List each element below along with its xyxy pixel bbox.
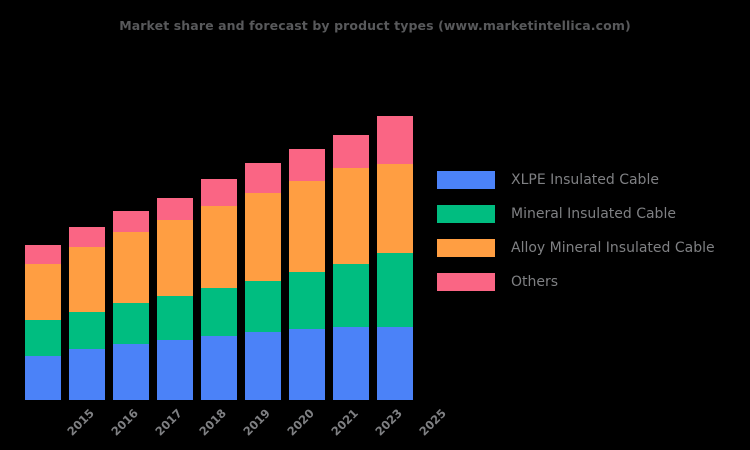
bar-group-2023[interactable]: [333, 135, 369, 400]
bar-segment[interactable]: [201, 336, 237, 400]
chart-title: Market share and forecast by product typ…: [0, 18, 750, 33]
bar-segment[interactable]: [289, 272, 325, 329]
bar-segment[interactable]: [377, 116, 413, 164]
legend-item[interactable]: Alloy Mineral Insulated Cable: [437, 231, 737, 265]
x-tick-label-2017: 2017: [152, 406, 185, 439]
legend-item-label: Mineral Insulated Cable: [511, 206, 676, 222]
chart-legend: XLPE Insulated CableMineral Insulated Ca…: [437, 163, 737, 299]
plot-area: [0, 60, 430, 400]
legend-item-label: Alloy Mineral Insulated Cable: [511, 240, 715, 256]
bar-segment[interactable]: [157, 296, 193, 340]
bar-segment[interactable]: [69, 247, 105, 311]
legend-swatch-icon: [437, 171, 495, 189]
bar-segment[interactable]: [113, 303, 149, 344]
bar-segment[interactable]: [201, 206, 237, 288]
bar-group-2016[interactable]: [69, 227, 105, 400]
bar-segment[interactable]: [245, 281, 281, 332]
bar-segment[interactable]: [157, 220, 193, 296]
legend-item-label: Others: [511, 274, 558, 290]
bar-segment[interactable]: [245, 163, 281, 193]
bar-segment[interactable]: [113, 232, 149, 303]
bar-segment[interactable]: [201, 179, 237, 206]
bar-segment[interactable]: [245, 193, 281, 280]
x-tick-label-2023: 2023: [372, 406, 405, 439]
bar-group-2021[interactable]: [289, 149, 325, 400]
x-tick-label-2021: 2021: [328, 406, 361, 439]
bar-segment[interactable]: [113, 211, 149, 232]
bar-segment[interactable]: [377, 253, 413, 326]
bar-segment[interactable]: [25, 264, 61, 320]
legend-swatch-icon: [437, 205, 495, 223]
bar-segment[interactable]: [377, 164, 413, 254]
legend-item[interactable]: XLPE Insulated Cable: [437, 163, 737, 197]
x-tick-label-2025: 2025: [416, 406, 449, 439]
legend-item-label: XLPE Insulated Cable: [511, 172, 659, 188]
bar-group-2020[interactable]: [245, 163, 281, 400]
bar-segment[interactable]: [333, 168, 369, 264]
bar-segment[interactable]: [377, 327, 413, 400]
bar-segment[interactable]: [69, 349, 105, 400]
bar-segment[interactable]: [113, 344, 149, 400]
x-axis: 201520162017201820192020202120232025: [0, 400, 430, 450]
bar-segment[interactable]: [289, 149, 325, 181]
bar-segment[interactable]: [69, 227, 105, 247]
bar-segment[interactable]: [245, 332, 281, 400]
bar-segment[interactable]: [157, 198, 193, 220]
bar-segment[interactable]: [333, 327, 369, 400]
legend-item[interactable]: Mineral Insulated Cable: [437, 197, 737, 231]
bar-segment[interactable]: [25, 245, 61, 264]
bar-group-2025[interactable]: [377, 116, 413, 400]
bar-segment[interactable]: [157, 340, 193, 400]
x-tick-label-2020: 2020: [284, 406, 317, 439]
bar-group-2017[interactable]: [113, 211, 149, 400]
bar-segment[interactable]: [25, 320, 61, 356]
x-tick-label-2018: 2018: [196, 406, 229, 439]
stacked-bar-chart: Market share and forecast by product typ…: [0, 0, 750, 450]
bar-group-2019[interactable]: [201, 179, 237, 400]
bar-segment[interactable]: [69, 312, 105, 350]
bar-segment[interactable]: [289, 329, 325, 400]
bar-group-2018[interactable]: [157, 198, 193, 400]
bar-segment[interactable]: [333, 135, 369, 168]
x-tick-label-2015: 2015: [64, 406, 97, 439]
x-tick-label-2016: 2016: [108, 406, 141, 439]
bar-group-2015[interactable]: [25, 245, 61, 400]
x-tick-label-2019: 2019: [240, 406, 273, 439]
legend-swatch-icon: [437, 239, 495, 257]
bar-segment[interactable]: [201, 288, 237, 336]
bar-segment[interactable]: [289, 181, 325, 272]
bar-segment[interactable]: [333, 264, 369, 326]
bar-segment[interactable]: [25, 356, 61, 400]
legend-item[interactable]: Others: [437, 265, 737, 299]
legend-swatch-icon: [437, 273, 495, 291]
